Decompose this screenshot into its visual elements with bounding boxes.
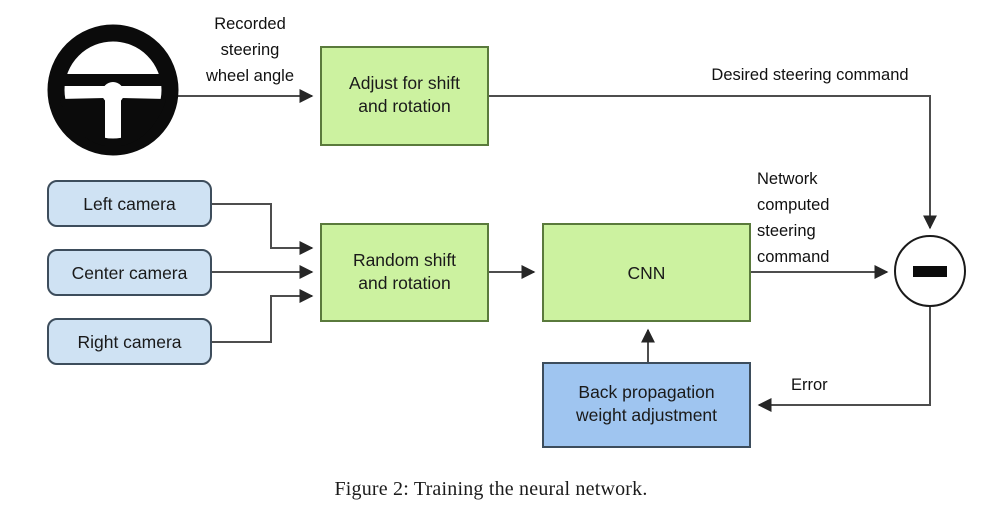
left-camera-label: Left camera (83, 194, 176, 214)
adjust-for-shift-and-rotation-box[interactable]: Adjust for shift and rotation (321, 47, 488, 145)
backprop-label-line1: Back propagation (578, 382, 714, 402)
cnn-box[interactable]: CNN (543, 224, 750, 321)
network-command-line4: command (757, 248, 829, 266)
center-camera-label: Center camera (72, 263, 188, 283)
training-pipeline-diagram: Adjust for shift and rotation Left camer… (0, 0, 982, 526)
error-label: Error (791, 376, 828, 394)
recorded-angle-line1: Recorded (214, 15, 286, 33)
edge-right-camera-to-random-shift (211, 296, 312, 342)
random-shift-box-label-line2: and rotation (358, 273, 450, 293)
recorded-steering-wheel-angle-label: Recorded steering wheel angle (205, 15, 294, 85)
random-shift-and-rotation-box[interactable]: Random shift and rotation (321, 224, 488, 321)
adjust-box-label-line2: and rotation (358, 96, 450, 116)
back-propagation-box[interactable]: Back propagation weight adjustment (543, 363, 750, 447)
cnn-label: CNN (628, 263, 666, 283)
center-camera-box[interactable]: Center camera (48, 250, 211, 295)
right-camera-label: Right camera (77, 332, 181, 352)
network-command-line2: computed (757, 196, 829, 214)
summing-junction[interactable] (895, 236, 965, 306)
steering-wheel-icon (56, 33, 170, 147)
random-shift-box-label-line1: Random shift (353, 250, 456, 270)
left-camera-box[interactable]: Left camera (48, 181, 211, 226)
figure-container: Adjust for shift and rotation Left camer… (0, 0, 982, 526)
edge-adjust-to-junction (488, 96, 930, 228)
recorded-angle-line2: steering (221, 41, 280, 59)
adjust-box-label-line1: Adjust for shift (349, 73, 460, 93)
edge-junction-to-backprop (759, 307, 930, 405)
network-command-line1: Network (757, 170, 818, 188)
recorded-angle-line3: wheel angle (205, 67, 294, 85)
desired-steering-command-label: Desired steering command (711, 66, 908, 84)
minus-icon (913, 266, 947, 277)
figure-caption: Figure 2: Training the neural network. (0, 478, 982, 501)
right-camera-box[interactable]: Right camera (48, 319, 211, 364)
network-command-line3: steering (757, 222, 816, 240)
backprop-label-line2: weight adjustment (575, 405, 717, 425)
network-computed-steering-command-label: Network computed steering command (757, 170, 829, 266)
edge-left-camera-to-random-shift (211, 204, 312, 248)
